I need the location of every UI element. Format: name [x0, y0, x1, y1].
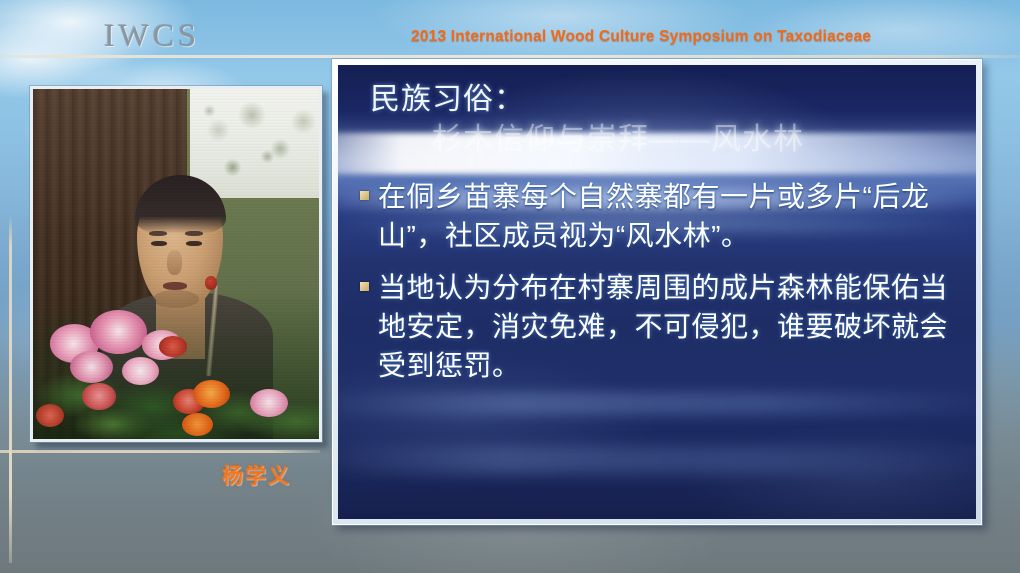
flower-lily-pink-b: [90, 310, 147, 354]
flower-red-accent: [159, 336, 188, 357]
flower-lily-pink-c: [70, 351, 113, 383]
decorative-horizontal-line: [0, 450, 320, 453]
speaker-name-caption: 杨学义: [222, 460, 291, 490]
square-bullet-icon: [360, 282, 369, 291]
speaker-nose: [167, 250, 181, 275]
presentation-slide-panel: 民族习俗： 杉木信仰与崇拜——风水林 在侗乡苗寨每个自然寨都有一片或多片“后龙山…: [332, 59, 982, 525]
speaker-video-panel: [30, 86, 322, 442]
podium-flower-arrangement: [33, 292, 319, 439]
bullet-text: 当地认为分布在村寨周围的成片森林能保佑当地安定，消灾免难，不可侵犯，谁要破坏就会…: [378, 269, 956, 385]
video-scene: [33, 89, 319, 439]
screenshot-stage: IWCS 2013 International Wood Culture Sym…: [0, 0, 1020, 573]
square-bullet-icon: [360, 191, 369, 200]
flower-rose-red-a: [82, 383, 116, 409]
flower-pink-right: [250, 389, 287, 417]
scene-wall-picture: [190, 89, 319, 198]
video-panel-frame: [30, 86, 322, 442]
speaker-mouth: [163, 282, 187, 290]
list-item: 在侗乡苗寨每个自然寨都有一片或多片“后龙山”，社区成员视为“风水林”。: [360, 178, 956, 255]
bullet-text: 在侗乡苗寨每个自然寨都有一片或多片“后龙山”，社区成员视为“风水林”。: [378, 178, 956, 255]
slide-content: 民族习俗： 杉木信仰与崇拜——风水林 在侗乡苗寨每个自然寨都有一片或多片“后龙山…: [338, 65, 976, 519]
slide-frame: 民族习俗： 杉木信仰与崇拜——风水林 在侗乡苗寨每个自然寨都有一片或多片“后龙山…: [332, 59, 982, 525]
slide-title-line-2: 杉木信仰与崇拜——风水林: [432, 123, 956, 157]
decorative-vertical-line: [9, 218, 12, 563]
list-item: 当地认为分布在村寨周围的成片森林能保佑当地安定，消灾免难，不可侵犯，谁要破坏就会…: [360, 269, 956, 385]
slide-bullet-list: 在侗乡苗寨每个自然寨都有一片或多片“后龙山”，社区成员视为“风水林”。 当地认为…: [360, 178, 956, 385]
iwcs-logo: IWCS: [104, 17, 200, 54]
flower-orange-b: [182, 413, 213, 437]
slide-canvas: 民族习俗： 杉木信仰与崇拜——风水林 在侗乡苗寨每个自然寨都有一片或多片“后龙山…: [338, 65, 976, 519]
flower-carnation-b: [122, 357, 159, 385]
slide-title-line-1: 民族习俗：: [370, 83, 956, 117]
header-divider-line: [0, 55, 1020, 58]
symposium-title: 2013 International Wood Culture Symposiu…: [411, 28, 871, 46]
